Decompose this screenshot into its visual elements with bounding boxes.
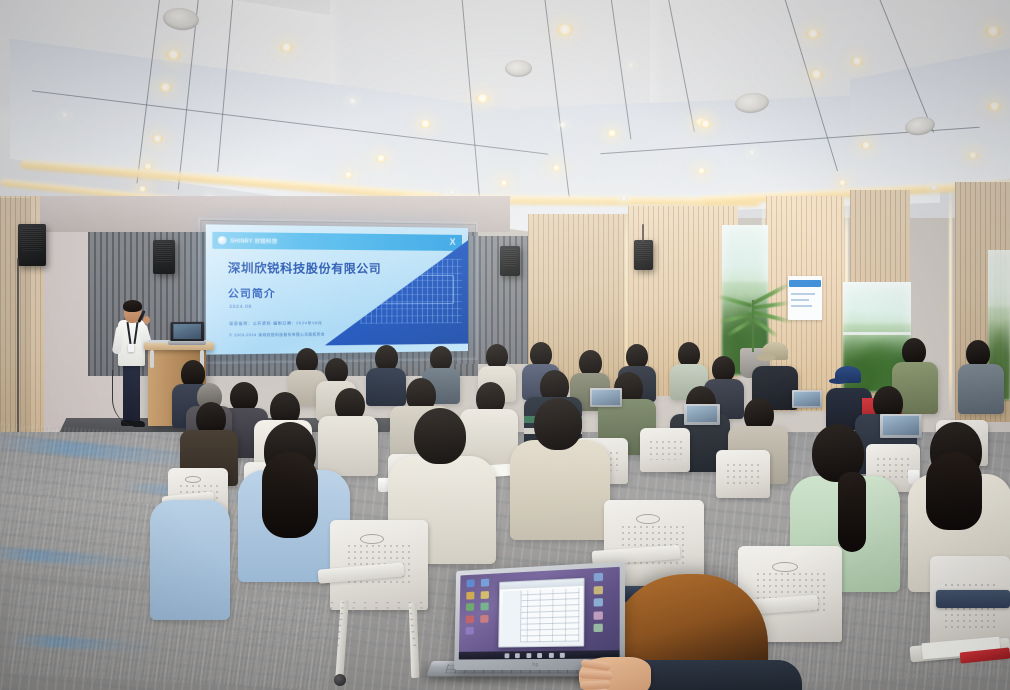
foreground-laptop[interactable]: hp bbox=[430, 565, 645, 690]
ceiling-downlight bbox=[851, 57, 863, 66]
ceiling-downlight bbox=[620, 196, 628, 201]
slide-subtitle: 公司简介 bbox=[228, 284, 276, 300]
attendee-laptop[interactable] bbox=[684, 404, 720, 425]
podium-laptop-base bbox=[168, 341, 206, 345]
ceiling-downlight bbox=[806, 29, 820, 39]
ceiling-downlight bbox=[159, 83, 172, 92]
ceiling-downlight bbox=[930, 185, 938, 190]
chair-caster bbox=[334, 674, 346, 686]
ceiling-downlight bbox=[280, 43, 293, 52]
wall-speaker-stage-right bbox=[500, 246, 520, 276]
ceiling-downlight bbox=[985, 26, 1001, 37]
attendee-body bbox=[510, 440, 610, 540]
laptop-lid: hp bbox=[454, 561, 625, 670]
ceiling-downlight bbox=[697, 168, 706, 174]
chair-handle bbox=[185, 476, 201, 483]
speaker-cable bbox=[642, 224, 644, 242]
ceiling-downlight bbox=[152, 135, 163, 143]
ceiling-downlight bbox=[138, 186, 147, 192]
slide-date: 2024.08 bbox=[229, 304, 252, 309]
attendee-body bbox=[366, 368, 406, 406]
presenter-badge bbox=[128, 344, 134, 352]
ceiling-downlight bbox=[810, 70, 823, 79]
ceiling-downlight bbox=[344, 172, 353, 178]
ceiling bbox=[0, 0, 1010, 218]
slide-corner-glyph: X bbox=[450, 236, 456, 246]
ceiling-speaker bbox=[505, 60, 532, 77]
attendee-head bbox=[902, 338, 926, 365]
poster-header-band bbox=[789, 280, 820, 287]
ceiling-downlight bbox=[626, 62, 635, 68]
attendee-body bbox=[318, 416, 378, 476]
ceiling-downlight bbox=[552, 165, 561, 171]
podium-laptop-screen bbox=[171, 322, 204, 342]
ceiling-downlight bbox=[988, 102, 1001, 111]
chair-handle bbox=[772, 562, 798, 572]
ceiling-downlight bbox=[700, 120, 711, 128]
attendee-head bbox=[966, 340, 990, 367]
attendee-head bbox=[414, 408, 466, 464]
wall-speaker-right bbox=[634, 240, 653, 270]
wall-speaker-stage-left bbox=[153, 240, 175, 274]
hp-logo: hp bbox=[532, 662, 538, 668]
chair-seat-pad bbox=[936, 590, 1010, 608]
training-chair[interactable] bbox=[640, 428, 690, 472]
wall-led-strip bbox=[949, 186, 952, 411]
ceiling-downlight bbox=[607, 130, 617, 137]
attendee-body bbox=[150, 500, 230, 620]
slide-footer-line-1: 保密级别：公开资料 编制日期：2024年08月 bbox=[229, 321, 322, 327]
cap-brim bbox=[829, 378, 848, 384]
ceiling-downlight bbox=[448, 190, 456, 195]
presenter-hair bbox=[123, 300, 142, 312]
ceiling-downlight bbox=[166, 50, 181, 60]
projection-screen: SHINRY 欣锐科技 X 深圳欣锐科技股份有限公司 公司简介 2024.08 … bbox=[206, 224, 468, 354]
attendee-head bbox=[534, 398, 582, 450]
chair-handle bbox=[636, 514, 660, 524]
chair-handle bbox=[360, 534, 384, 544]
cap-brim bbox=[756, 354, 776, 361]
slide-accent-triangle bbox=[325, 239, 468, 346]
slide-header-band: SHINRY 欣锐科技 bbox=[213, 232, 462, 251]
slide-technical-artwork-outline bbox=[378, 275, 454, 304]
ceiling-downlight bbox=[559, 122, 567, 128]
ceiling-downlight bbox=[60, 112, 69, 118]
attendee-long-hair bbox=[926, 452, 982, 530]
training-chair[interactable] bbox=[716, 450, 770, 498]
conference-room-photo: SHINRY 欣锐科技 X 深圳欣锐科技股份有限公司 公司简介 2024.08 … bbox=[0, 0, 1010, 690]
attendee-laptop[interactable] bbox=[880, 414, 922, 438]
slide-title: 深圳欣锐科技股份有限公司 bbox=[228, 260, 381, 277]
company-logo-text: SHINRY 欣锐科技 bbox=[230, 237, 277, 245]
ceiling-downlight bbox=[476, 94, 489, 103]
wall-speaker-left bbox=[18, 224, 46, 266]
typing-hand bbox=[579, 657, 651, 690]
ceiling-downlight bbox=[500, 180, 508, 186]
ceiling-downlight bbox=[748, 150, 756, 155]
laptop-display[interactable] bbox=[459, 567, 620, 660]
attendee-laptop[interactable] bbox=[792, 390, 822, 408]
podium-rail bbox=[150, 350, 154, 368]
ceiling-downlight bbox=[968, 152, 978, 159]
company-logo-icon bbox=[218, 237, 227, 246]
presentation-slide: SHINRY 欣锐科技 X 深圳欣锐科技股份有限公司 公司简介 2024.08 … bbox=[206, 224, 468, 354]
ceiling-downlight bbox=[861, 142, 871, 149]
ceiling-downlight bbox=[376, 155, 386, 162]
attendee-long-hair bbox=[262, 452, 318, 538]
ceiling-downlight bbox=[420, 120, 431, 128]
attendee-ponytail bbox=[838, 472, 866, 552]
ceiling-downlight bbox=[348, 98, 357, 104]
attendee-laptop[interactable] bbox=[590, 388, 622, 407]
window-sidebar[interactable] bbox=[502, 591, 521, 643]
slide-footer-line-2: © 2003-2024 深圳欣锐科技股份有限公司版权所有 bbox=[229, 331, 325, 337]
ceiling-downlight bbox=[838, 180, 847, 186]
wall-poster bbox=[788, 276, 822, 320]
ceiling-downlight bbox=[143, 163, 153, 170]
attendee-body bbox=[958, 364, 1004, 414]
ceiling-downlight bbox=[557, 24, 573, 36]
laptop-app-window[interactable] bbox=[498, 578, 584, 648]
